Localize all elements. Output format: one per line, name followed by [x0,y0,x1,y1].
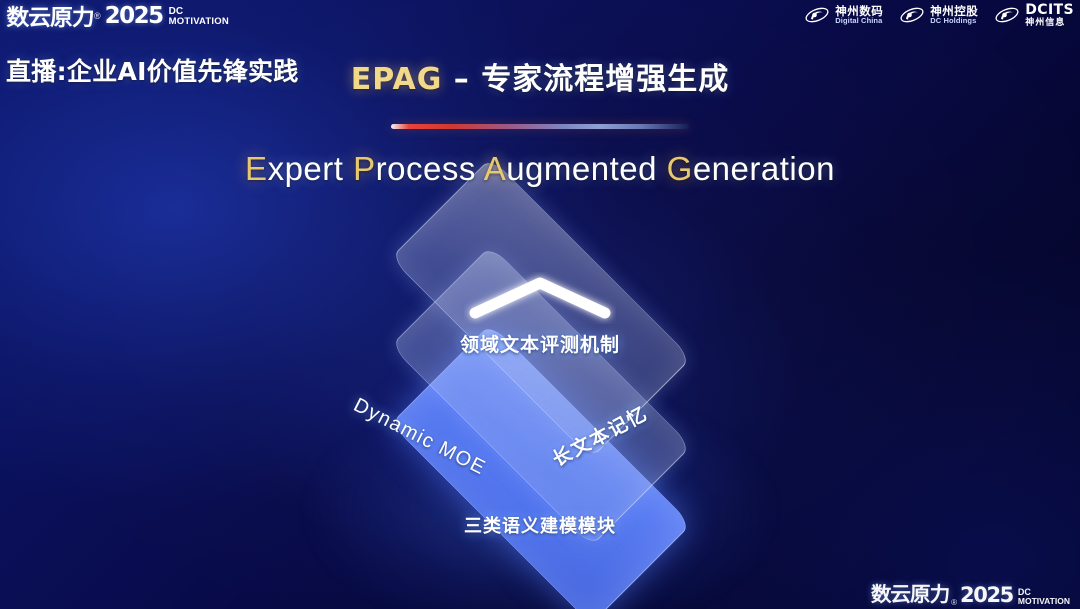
space-1 [343,150,353,187]
brand-year: 2025 [105,3,163,29]
slide-canvas: 数云原力 ® 2025 DC MOTIVATION 直播:企业AI价值先锋实践 … [0,0,1080,609]
stacked-layers-diagram: 领域文本评测机制 Dynamic MOE 长文本记忆 三类语义建模模块 [290,236,790,566]
layer-bottom-label: 三类语义建模模块 [464,512,616,538]
word-rest-process: rocess [376,150,476,187]
swirl-icon [804,4,830,26]
word-initial-e: E [245,150,268,187]
logo-name-en: Digital China [835,17,883,25]
subtitle-english: Expert Process Augmented Generation [0,150,1080,188]
watermark-motivation-text: MOTIVATION [1018,597,1070,606]
title-divider [391,124,689,129]
layer-top-label: 领域文本评测机制 [460,330,620,357]
partner-logo-row: 神州数码 Digital China 神州控股 DC Holdings [804,3,1074,27]
brand-dc-motivation: DC MOTIVATION [169,7,229,27]
word-rest-expert: xpert [268,150,344,187]
live-banner-text: 直播:企业AI价值先锋实践 [6,52,299,88]
word-initial-p: P [353,150,376,187]
header-brand-logo: 数云原力 ® 2025 DC MOTIVATION [8,2,229,30]
space-2 [476,150,484,187]
logo-text-block: DCITS 神州信息 [1025,3,1074,27]
logo-text-block: 神州数码 Digital China [835,5,883,25]
swirl-icon [899,4,925,26]
watermark-brand-cn: 数云原力 [871,578,949,607]
logo-name-en: DC Holdings [930,17,978,25]
chevron-up-icon [464,272,616,329]
watermark-registered-mark: ® [951,598,957,607]
logo-digital-china: 神州数码 Digital China [804,4,883,26]
brand-name-cn: 数云原力 [6,0,93,32]
word-initial-a: A [484,150,507,187]
logo-text-block: 神州控股 DC Holdings [930,5,978,25]
title-chinese: 专家流程增强生成 [481,62,729,97]
brand-motivation-text: MOTIVATION [169,17,229,27]
brand-registered-mark: ® [94,11,101,21]
title-dash: – [442,62,481,97]
watermark-year: 2025 [960,583,1013,607]
logo-name-cn: 神州信息 [1025,18,1074,27]
word-rest-augmented: ugmented [506,150,657,187]
swirl-icon [994,4,1020,26]
footer-watermark: 数云原力 ® 2025 DC MOTIVATION [872,578,1070,607]
logo-dc-holdings: 神州控股 DC Holdings [899,4,978,26]
word-initial-g: G [667,150,693,187]
word-rest-generation: eneration [693,150,835,187]
title-acronym: EPAG [351,62,443,97]
logo-dcits: DCITS 神州信息 [994,3,1074,27]
space-3 [657,150,667,187]
logo-name-latin: DCITS [1025,3,1074,18]
watermark-dc-motivation: DC MOTIVATION [1018,588,1070,606]
